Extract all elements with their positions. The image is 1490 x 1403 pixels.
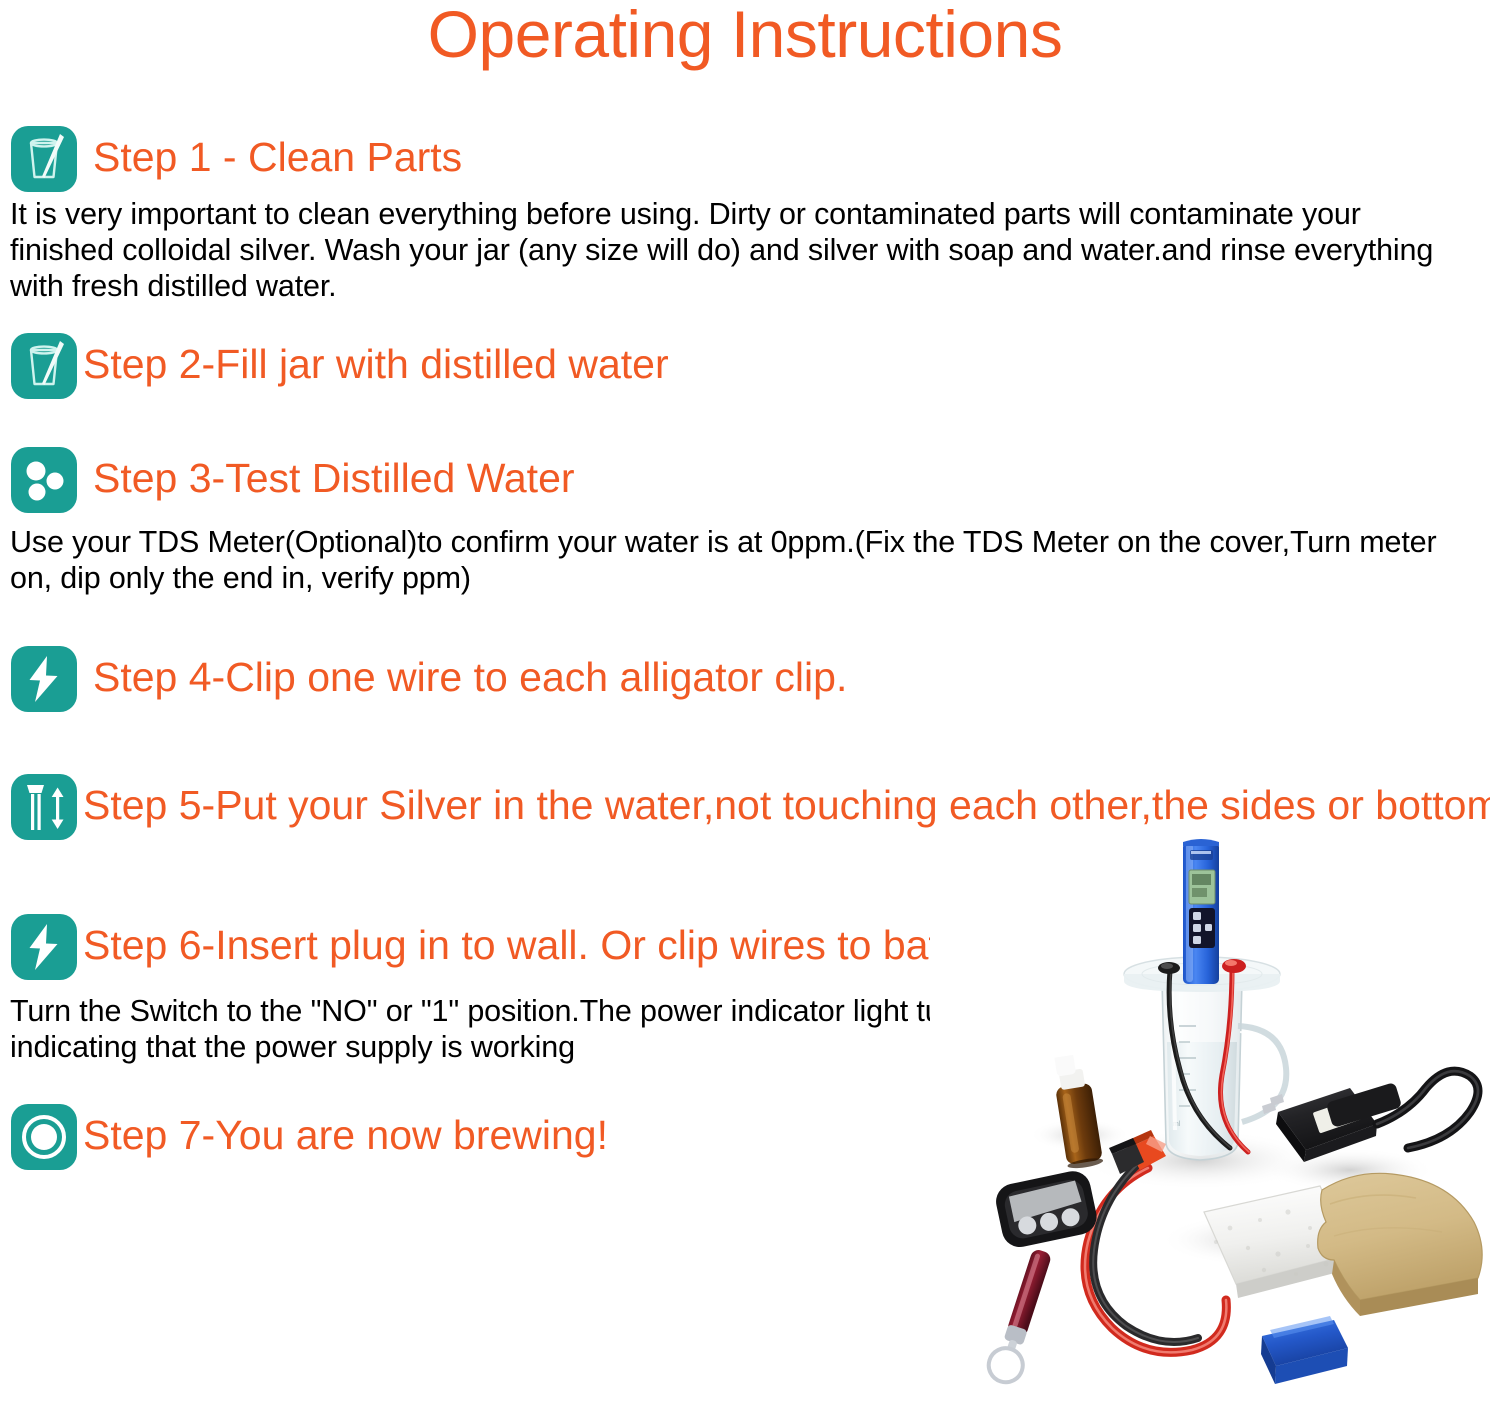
step-heading-6: Step 6-Insert plug in to wall. Or clip w… bbox=[83, 925, 1051, 969]
silver-rods-arrow-icon bbox=[11, 774, 77, 840]
step-heading-1: Step 1 - Clean Parts bbox=[93, 137, 462, 181]
step-row-6: Step 6-Insert plug in to wall. Or clip w… bbox=[11, 914, 1051, 980]
glass-with-straw-icon bbox=[11, 333, 77, 399]
instructions-page: Operating Instructions Step 1 - Clean Pa… bbox=[0, 0, 1490, 1403]
step-row-1: Step 1 - Clean Parts bbox=[11, 126, 462, 192]
step-body-3: Use your TDS Meter(Optional)to confirm y… bbox=[10, 524, 1470, 596]
tds-meter bbox=[1183, 839, 1219, 984]
step-heading-2: Step 2-Fill jar with distilled water bbox=[83, 344, 669, 388]
step-row-2: Step 2-Fill jar with distilled water bbox=[11, 333, 669, 399]
glass-with-straw-icon bbox=[11, 126, 77, 192]
step-row-4: Step 4-Clip one wire to each alligator c… bbox=[11, 646, 847, 712]
power-ring-icon bbox=[11, 1104, 77, 1170]
colloidal-silver-kit-photo: ml bbox=[930, 830, 1490, 1403]
step-body-1: It is very important to clean everything… bbox=[10, 196, 1470, 304]
step-row-7: Step 7-You are now brewing! bbox=[11, 1104, 608, 1170]
page-title: Operating Instructions bbox=[0, 0, 1490, 71]
lightning-bolt-icon bbox=[11, 914, 77, 980]
step-heading-4: Step 4-Clip one wire to each alligator c… bbox=[93, 657, 847, 701]
step-row-3: Step 3-Test Distilled Water bbox=[11, 447, 575, 513]
step-heading-7: Step 7-You are now brewing! bbox=[83, 1115, 608, 1159]
step-heading-5: Step 5-Put your Silver in the water,not … bbox=[83, 785, 1490, 829]
lightning-bolt-icon bbox=[11, 646, 77, 712]
step-heading-3: Step 3-Test Distilled Water bbox=[93, 458, 575, 502]
three-dots-icon bbox=[11, 447, 77, 513]
